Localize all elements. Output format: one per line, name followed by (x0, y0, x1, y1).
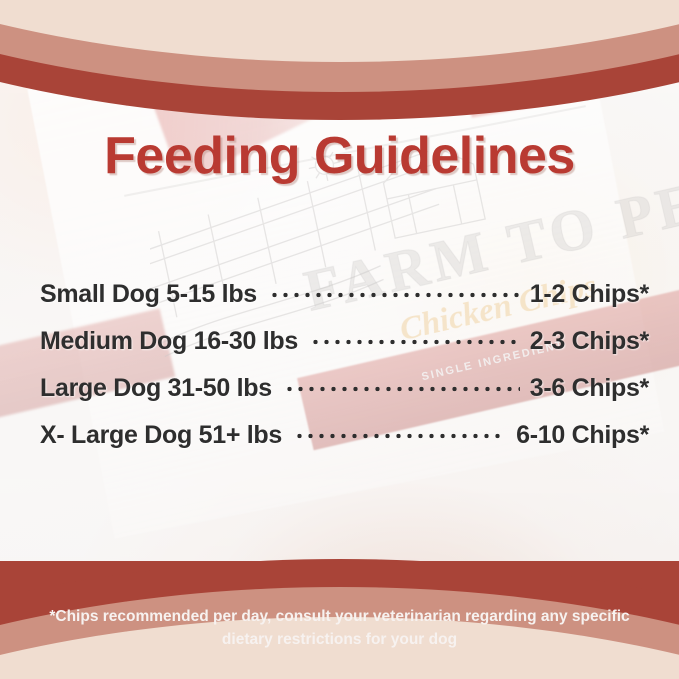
table-row: Large Dog 31-50 lbs 3-6 Chips* (40, 374, 649, 421)
row-label: Small Dog 5-15 lbs (40, 280, 257, 309)
row-label: Medium Dog 16-30 lbs (40, 327, 298, 356)
row-label: Large Dog 31-50 lbs (40, 374, 272, 403)
row-value: 2-3 Chips* (530, 327, 649, 356)
table-row: X- Large Dog 51+ lbs 6-10 Chips* (40, 421, 649, 468)
row-value: 1-2 Chips* (530, 280, 649, 309)
dot-leader (310, 339, 520, 345)
feeding-table: Small Dog 5-15 lbs 1-2 Chips* Medium Dog… (40, 280, 649, 468)
card-content: Feeding Guidelines Small Dog 5-15 lbs 1-… (0, 0, 679, 679)
dot-leader (284, 386, 520, 392)
row-value: 6-10 Chips* (516, 421, 649, 450)
feeding-guidelines-card: NEW Value Bag NEW FARM TO PET Chicken Ch… (0, 0, 679, 679)
table-row: Small Dog 5-15 lbs 1-2 Chips* (40, 280, 649, 327)
row-label: X- Large Dog 51+ lbs (40, 421, 282, 450)
row-value: 3-6 Chips* (530, 374, 649, 403)
table-row: Medium Dog 16-30 lbs 2-3 Chips* (40, 327, 649, 374)
dot-leader (294, 433, 506, 439)
footnote: *Chips recommended per day, consult your… (0, 606, 679, 651)
page-title: Feeding Guidelines (0, 126, 679, 186)
dot-leader (269, 292, 520, 298)
